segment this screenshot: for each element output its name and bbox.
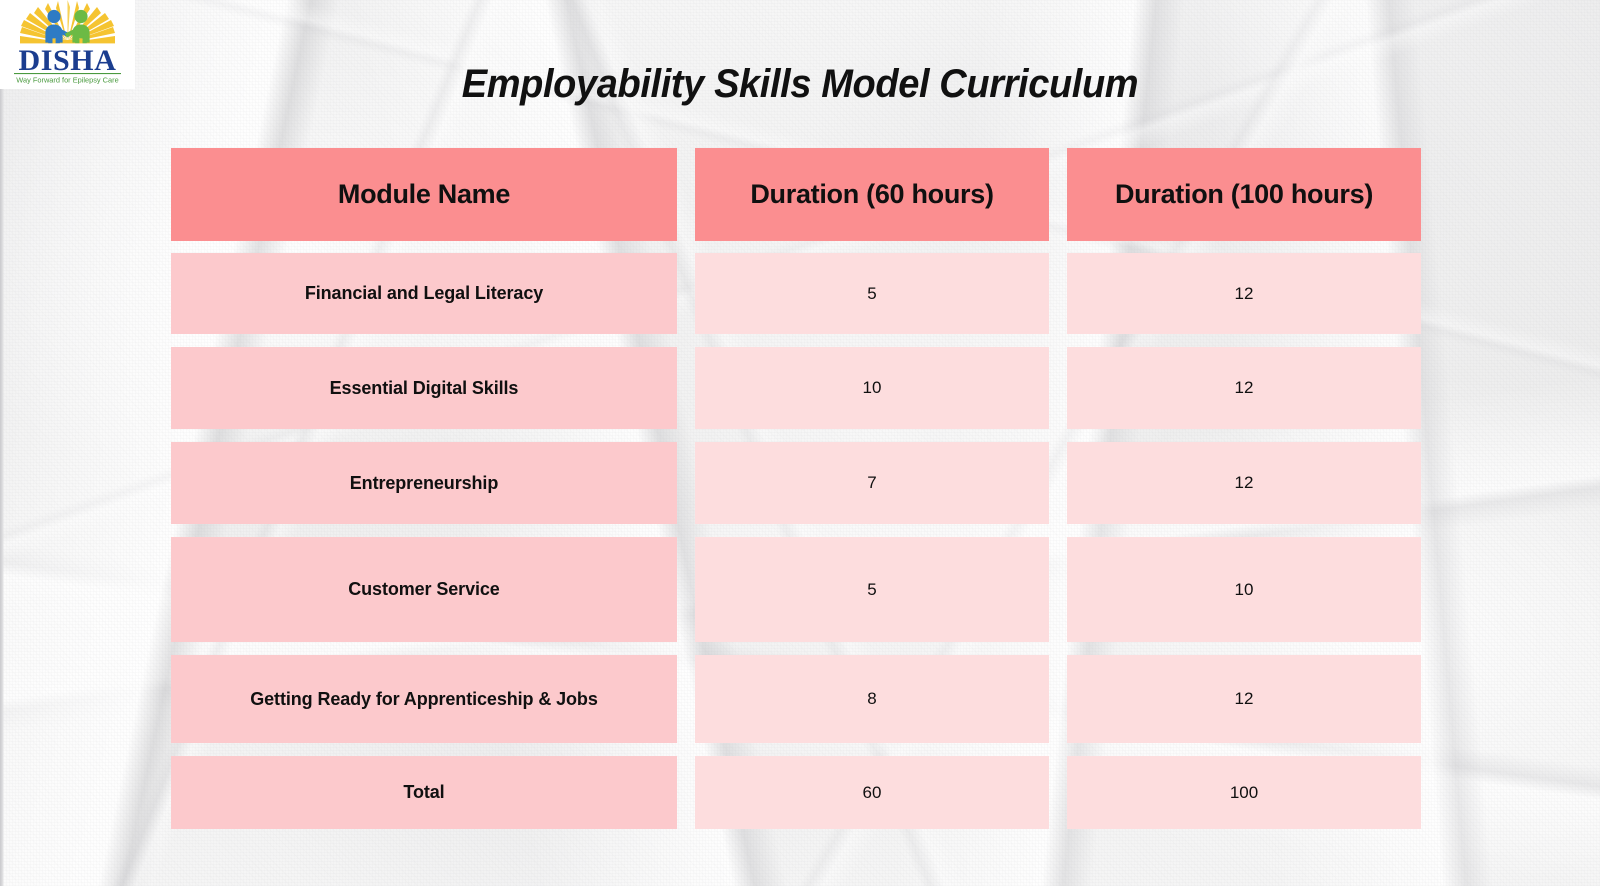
table-row: Essential Digital Skills 10 12 (171, 347, 1413, 429)
cell-module-name: Customer Service (171, 537, 677, 642)
cell-module-name: Essential Digital Skills (171, 347, 677, 429)
table-header-row: Module Name Duration (60 hours) Duration… (171, 148, 1413, 241)
cell-duration-100: 12 (1067, 253, 1421, 334)
page-title: Employability Skills Model Curriculum (40, 62, 1560, 107)
table-row: Financial and Legal Literacy 5 12 (171, 253, 1413, 334)
cell-duration-60: 5 (695, 253, 1049, 334)
slide-canvas: DISHA Way Forward for Epilepsy Care Empl… (0, 0, 1600, 886)
cell-duration-60: 8 (695, 655, 1049, 743)
table-row: Getting Ready for Apprenticeship & Jobs … (171, 655, 1413, 743)
column-header-duration-100: Duration (100 hours) (1067, 148, 1421, 241)
cell-duration-60: 7 (695, 442, 1049, 524)
logo-wordmark: DISHA (18, 44, 116, 77)
cell-module-name: Getting Ready for Apprenticeship & Jobs (171, 655, 677, 743)
cell-module-name: Entrepreneurship (171, 442, 677, 524)
table-row: Customer Service 5 10 (171, 537, 1413, 642)
column-header-module-name: Module Name (171, 148, 677, 241)
cell-duration-100: 10 (1067, 537, 1421, 642)
cell-duration-100: 12 (1067, 347, 1421, 429)
cell-duration-100: 12 (1067, 442, 1421, 524)
table-row-total: Total 60 100 (171, 756, 1413, 829)
disha-logo: DISHA Way Forward for Epilepsy Care (0, 0, 135, 89)
cell-module-name: Financial and Legal Literacy (171, 253, 677, 334)
column-header-duration-60: Duration (60 hours) (695, 148, 1049, 241)
cell-duration-100: 12 (1067, 655, 1421, 743)
disha-logo-svg: DISHA Way Forward for Epilepsy Care (0, 0, 135, 89)
logo-tagline: Way Forward for Epilepsy Care (16, 76, 118, 85)
cell-duration-60: 10 (695, 347, 1049, 429)
cell-module-name-total: Total (171, 756, 677, 829)
cell-duration-60: 5 (695, 537, 1049, 642)
curriculum-table: Module Name Duration (60 hours) Duration… (171, 148, 1413, 842)
table-row: Entrepreneurship 7 12 (171, 442, 1413, 524)
left-edge-shadow (0, 0, 4, 886)
cell-duration-100-total: 100 (1067, 756, 1421, 829)
cell-duration-60-total: 60 (695, 756, 1049, 829)
